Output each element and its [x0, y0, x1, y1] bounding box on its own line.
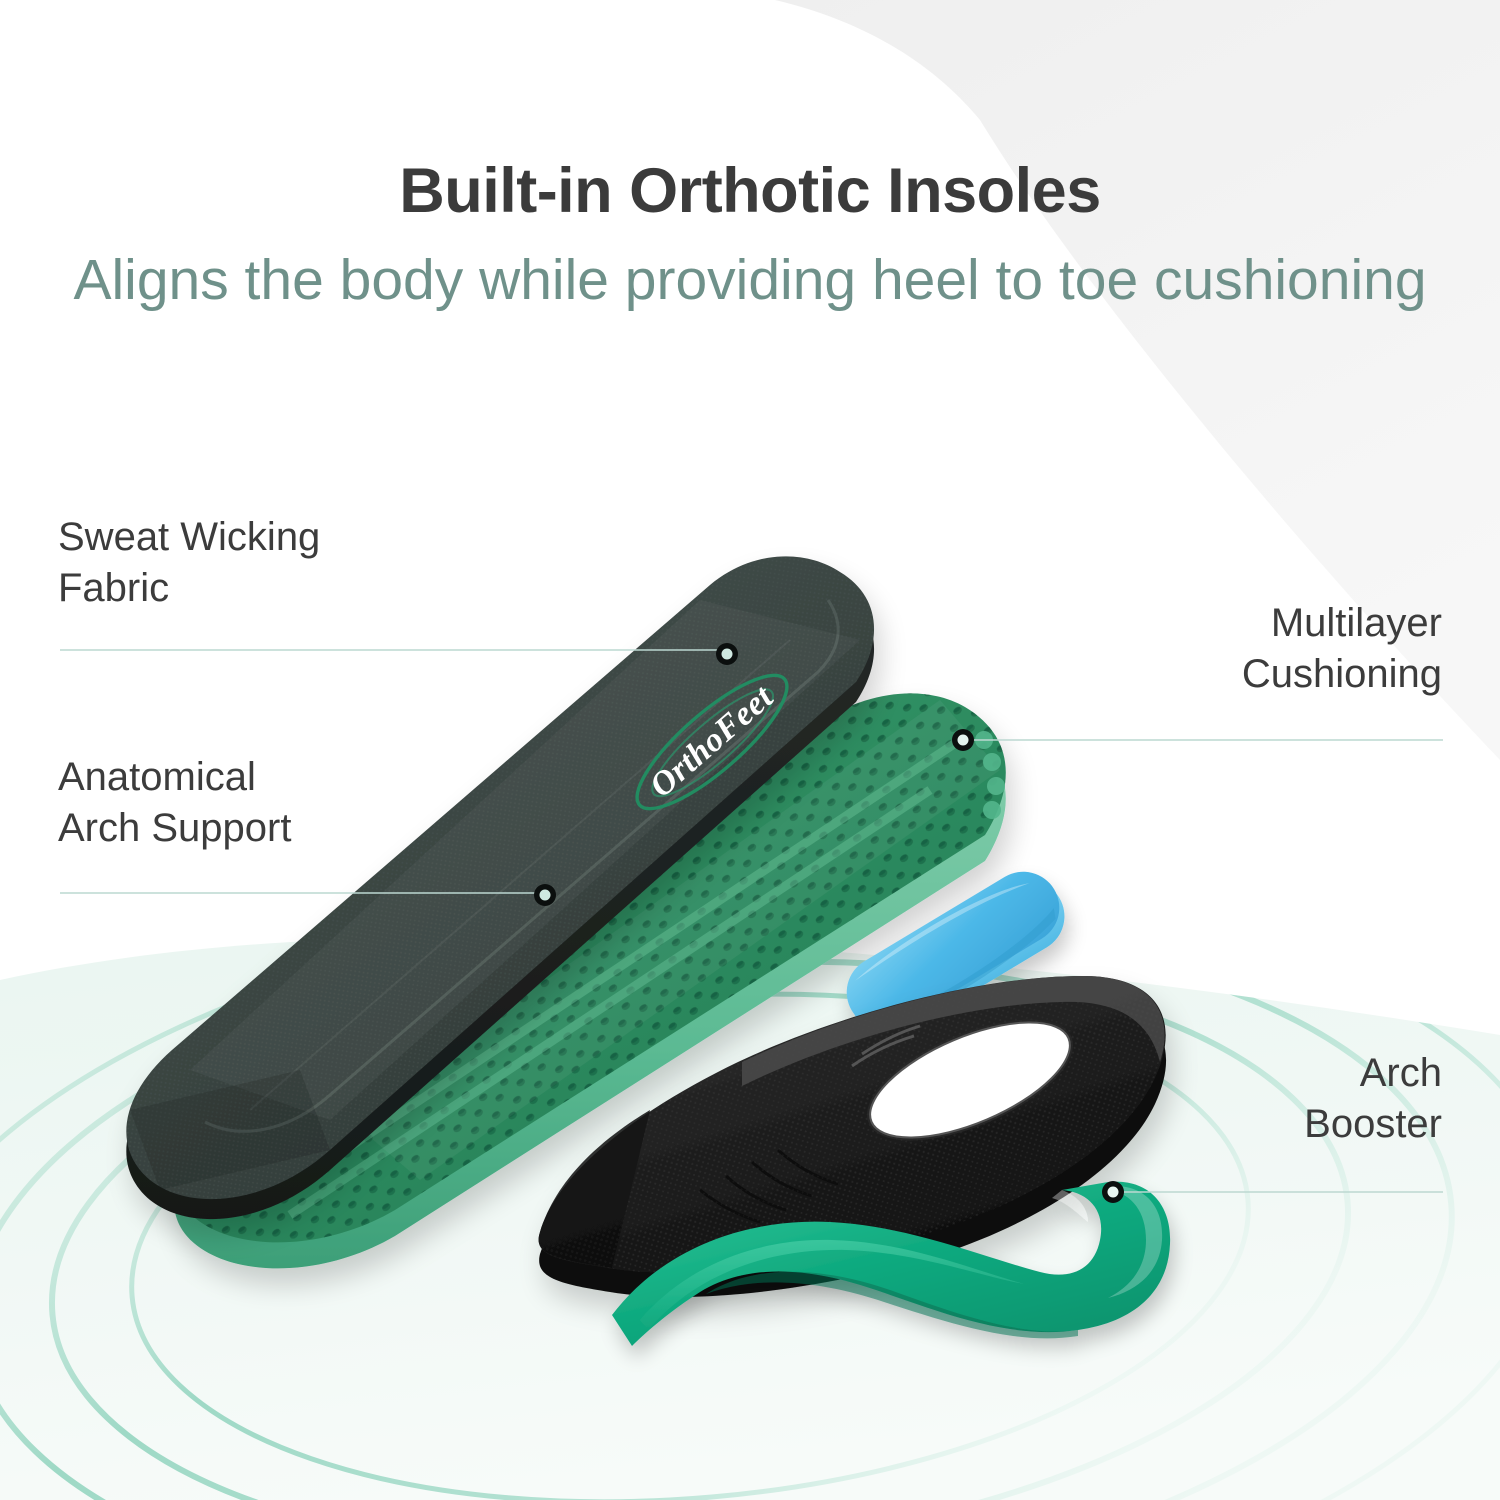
callout-label-anatomical-arch-support: Anatomical Arch Support	[58, 752, 678, 854]
callout-multilayer-cushioning: Multilayer Cushioning	[820, 598, 1442, 700]
callout-label-sweat-wicking-fabric: Sweat Wicking Fabric	[58, 512, 678, 614]
callout-label-multilayer-cushioning: Multilayer Cushioning	[820, 598, 1442, 700]
page-title: Built-in Orthotic Insoles	[0, 160, 1500, 223]
infographic-canvas: OrthoFeet	[0, 0, 1500, 1500]
callout-label-arch-booster: Arch Booster	[820, 1048, 1442, 1150]
callout-arch-booster: Arch Booster	[820, 1048, 1442, 1150]
page-subtitle: Aligns the body while providing heel to …	[0, 247, 1500, 314]
callout-sweat-wicking-fabric: Sweat Wicking Fabric	[58, 512, 678, 614]
header-block: Built-in Orthotic Insoles Aligns the bod…	[0, 160, 1500, 314]
callout-anatomical-arch-support: Anatomical Arch Support	[58, 752, 678, 854]
